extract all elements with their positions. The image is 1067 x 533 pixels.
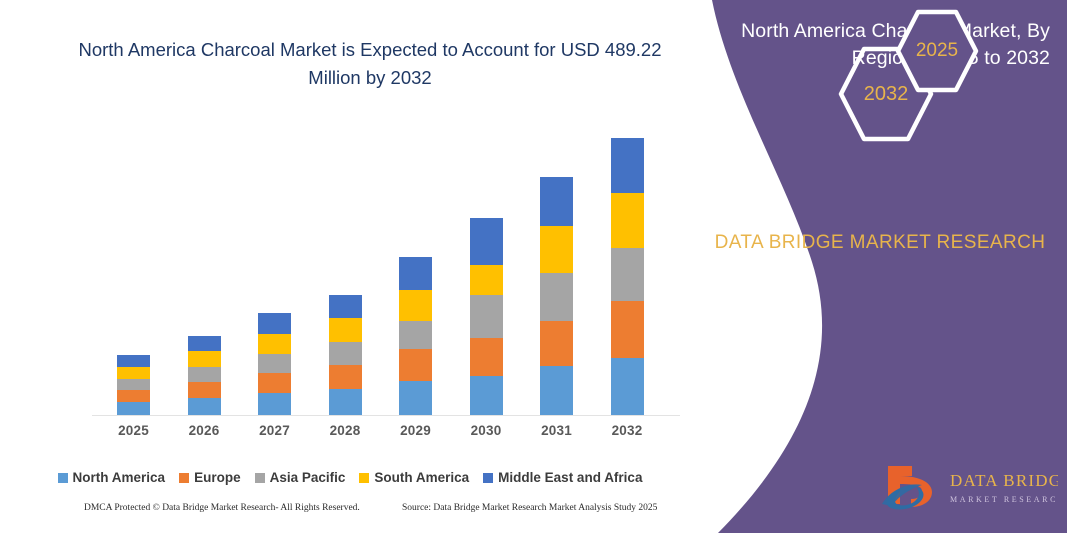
- legend-label: North America: [73, 470, 166, 485]
- bar-segment: [399, 381, 432, 415]
- logo-secondary-text: MARKET RESEARCH: [950, 495, 1058, 504]
- bar-segment: [470, 265, 503, 295]
- bar-segment: [399, 290, 432, 321]
- x-tick-2028: 2028: [310, 423, 380, 438]
- bar-segment: [188, 351, 221, 367]
- bar-segment: [188, 367, 221, 382]
- legend-swatch-icon: [483, 473, 493, 483]
- bar-segment: [470, 338, 503, 376]
- x-tick-2027: 2027: [240, 423, 310, 438]
- bar-segment: [540, 177, 573, 226]
- legend-item-3[interactable]: South America: [359, 470, 469, 485]
- footer-copyright: DMCA Protected © Data Bridge Market Rese…: [84, 503, 360, 513]
- bar-segment: [117, 355, 150, 367]
- chart-legend: North AmericaEuropeAsia PacificSouth Ame…: [0, 470, 700, 485]
- bar-2031: [540, 177, 573, 415]
- bar-segment: [611, 193, 644, 248]
- legend-swatch-icon: [255, 473, 265, 483]
- bar-segment: [258, 373, 291, 393]
- legend-label: Europe: [194, 470, 241, 485]
- bar-2027: [258, 313, 291, 415]
- bar-segment: [329, 295, 362, 318]
- x-tick-2032: 2032: [592, 423, 662, 438]
- x-tick-2026: 2026: [169, 423, 239, 438]
- data-bridge-logo: DATA BRIDGE MARKET RESEARCH: [878, 460, 1058, 512]
- bar-2030: [470, 218, 503, 415]
- legend-label: Asia Pacific: [270, 470, 346, 485]
- bar-segment: [258, 393, 291, 415]
- bar-segment: [540, 273, 573, 321]
- bar-segment: [188, 382, 221, 398]
- brand-name: DATA BRIDGE MARKET RESEARCH: [710, 228, 1050, 258]
- legend-label: Middle East and Africa: [498, 470, 642, 485]
- legend-item-2[interactable]: Asia Pacific: [255, 470, 346, 485]
- bar-2025: [117, 355, 150, 415]
- bar-segment: [611, 301, 644, 358]
- bar-segment: [329, 389, 362, 415]
- bar-segment: [540, 366, 573, 415]
- x-tick-2030: 2030: [451, 423, 521, 438]
- bar-segment: [470, 218, 503, 265]
- bar-segment: [117, 402, 150, 415]
- bar-segment: [611, 358, 644, 415]
- bar-segment: [188, 336, 221, 351]
- bar-segment: [188, 398, 221, 415]
- bar-segment: [399, 257, 432, 290]
- bar-2029: [399, 257, 432, 415]
- brand-panel: North America Charcoal Market, By Region…: [690, 0, 1067, 533]
- bar-2032: [611, 138, 644, 415]
- x-tick-2031: 2031: [522, 423, 592, 438]
- footer-source: Source: Data Bridge Market Research Mark…: [402, 503, 657, 513]
- legend-item-1[interactable]: Europe: [179, 470, 241, 485]
- bar-segment: [540, 226, 573, 273]
- legend-label: South America: [374, 470, 469, 485]
- bar-segment: [258, 354, 291, 373]
- hexagon-2025-label: 2025: [894, 8, 980, 94]
- bar-segment: [258, 313, 291, 334]
- bar-segment: [611, 248, 644, 301]
- stacked-bar-chart: 20252026202720282029203020312032: [0, 0, 700, 533]
- bar-segment: [399, 349, 432, 381]
- legend-swatch-icon: [58, 473, 68, 483]
- x-axis-line: [92, 415, 680, 416]
- bar-segment: [329, 342, 362, 365]
- bar-segment: [611, 138, 644, 193]
- bar-segment: [117, 367, 150, 379]
- bar-2026: [188, 336, 221, 415]
- bar-segment: [117, 390, 150, 402]
- logo-mark-icon: DATA BRIDGE MARKET RESEARCH: [878, 460, 1058, 512]
- logo-primary-text: DATA BRIDGE: [950, 471, 1058, 490]
- bar-segment: [399, 321, 432, 349]
- legend-item-0[interactable]: North America: [58, 470, 166, 485]
- legend-swatch-icon: [359, 473, 369, 483]
- hexagon-2025: 2025: [894, 8, 980, 94]
- bar-segment: [117, 379, 150, 390]
- legend-item-4[interactable]: Middle East and Africa: [483, 470, 642, 485]
- bar-segment: [258, 334, 291, 354]
- x-tick-2025: 2025: [99, 423, 169, 438]
- x-tick-2029: 2029: [381, 423, 451, 438]
- bar-segment: [470, 376, 503, 415]
- bar-segment: [470, 295, 503, 338]
- bar-2028: [329, 295, 362, 415]
- legend-swatch-icon: [179, 473, 189, 483]
- bar-segment: [540, 321, 573, 366]
- bar-segment: [329, 318, 362, 342]
- infographic-canvas: North America Charcoal Market is Expecte…: [0, 0, 1067, 533]
- bar-segment: [329, 365, 362, 389]
